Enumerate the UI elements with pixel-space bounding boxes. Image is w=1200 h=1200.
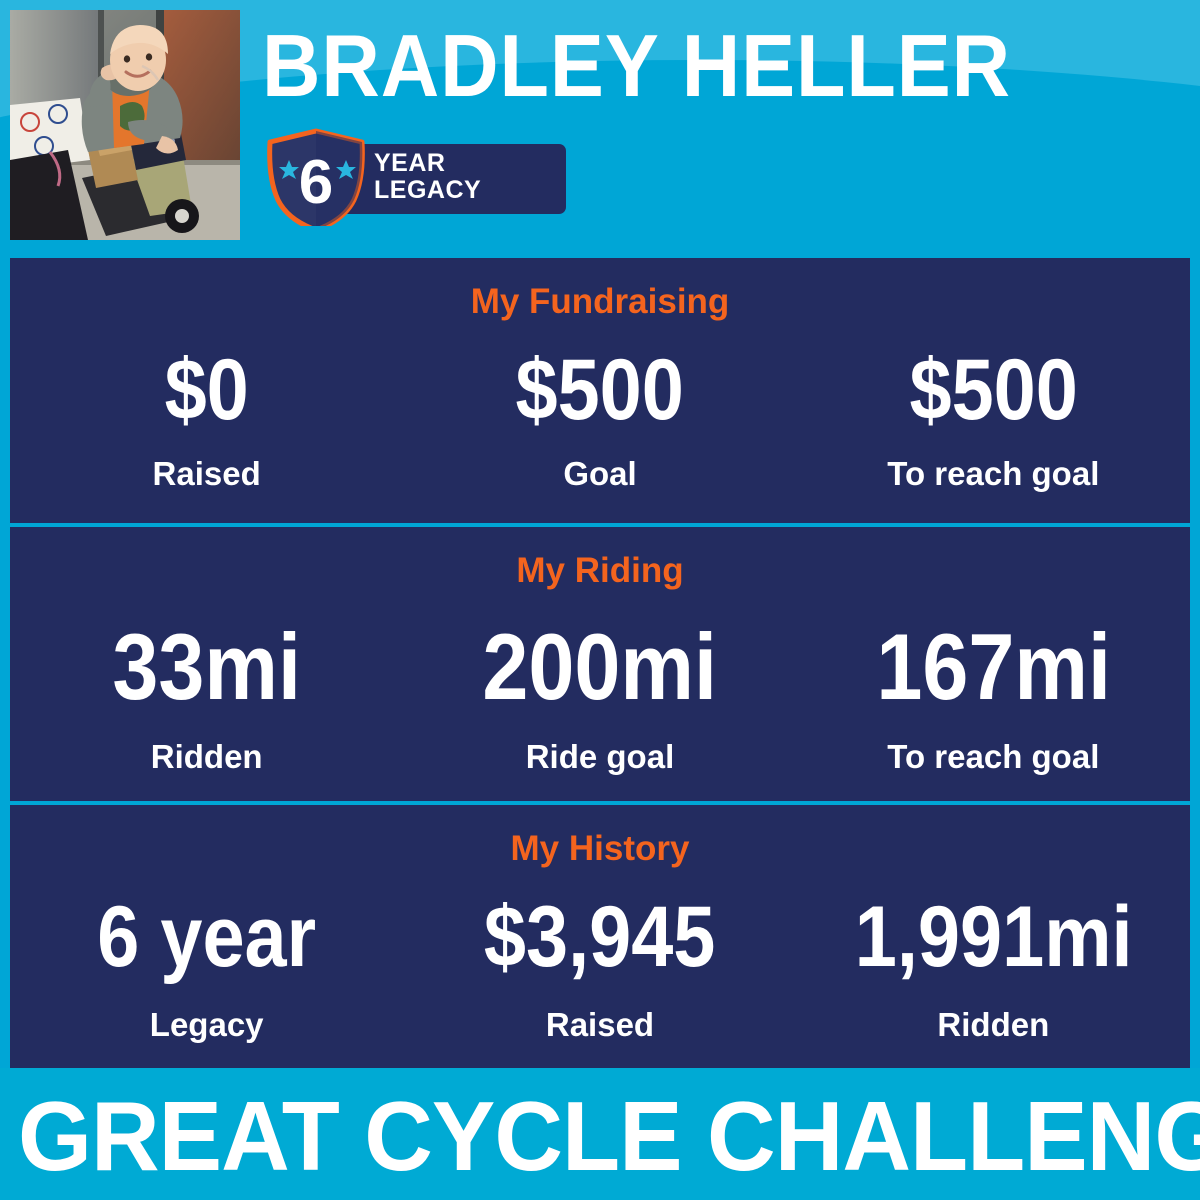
stat-total-ridden: 1,991mi Ridden xyxy=(797,883,1190,1045)
stat-label: Raised xyxy=(10,454,403,494)
stat-label: Goal xyxy=(403,454,796,494)
stat-label: Legacy xyxy=(10,1005,403,1045)
stat-value: 1,991mi xyxy=(820,883,1166,991)
fundraiser-card: BRADLEY HELLER YEAR LEGACY 6 My Fundrai xyxy=(0,0,1200,1200)
page-title: BRADLEY HELLER xyxy=(262,16,934,116)
header: BRADLEY HELLER YEAR LEGACY 6 xyxy=(0,0,1200,258)
stat-value: $0 xyxy=(34,338,380,442)
stat-value: $3,945 xyxy=(427,883,773,991)
stat-label: Ridden xyxy=(10,737,403,777)
legacy-legacy-label: LEGACY xyxy=(374,177,564,204)
stat-label: Ride goal xyxy=(403,737,796,777)
stat-value: 200mi xyxy=(427,609,773,725)
stat-miles-to-reach-goal: 167mi To reach goal xyxy=(797,609,1190,777)
panel-title-riding: My Riding xyxy=(10,551,1190,591)
legacy-plate-text: YEAR LEGACY xyxy=(374,150,564,204)
stat-legacy: 6 year Legacy xyxy=(10,883,403,1045)
stat-goal: $500 Goal xyxy=(403,338,796,494)
stat-value: 6 year xyxy=(34,883,380,991)
footer: GREAT CYCLE CHALLENGE xyxy=(0,1068,1200,1200)
great-cycle-challenge-wordmark: GREAT CYCLE CHALLENGE xyxy=(18,1084,1182,1188)
stat-to-reach-goal: $500 To reach goal xyxy=(797,338,1190,494)
stat-raised: $0 Raised xyxy=(10,338,403,494)
svg-text:6: 6 xyxy=(299,148,333,217)
stats-row-fundraising: $0 Raised $500 Goal $500 To reach goal xyxy=(10,338,1190,494)
stat-label: Ridden xyxy=(797,1005,1190,1045)
panel-title-fundraising: My Fundraising xyxy=(10,282,1190,322)
shield-icon: 6 xyxy=(262,128,370,226)
stats-panels: My Fundraising $0 Raised $500 Goal $500 … xyxy=(10,258,1190,1068)
stat-value: 167mi xyxy=(820,609,1166,725)
stat-total-raised: $3,945 Raised xyxy=(403,883,796,1045)
stat-label: To reach goal xyxy=(797,454,1190,494)
stat-value: $500 xyxy=(427,338,773,442)
stat-value: $500 xyxy=(820,338,1166,442)
stat-label: Raised xyxy=(403,1005,796,1045)
panel-fundraising: My Fundraising $0 Raised $500 Goal $500 … xyxy=(10,258,1190,523)
panel-riding: My Riding 33mi Ridden 200mi Ride goal 16… xyxy=(10,527,1190,801)
stat-value: 33mi xyxy=(34,609,380,725)
stats-row-riding: 33mi Ridden 200mi Ride goal 167mi To rea… xyxy=(10,609,1190,777)
panel-title-history: My History xyxy=(10,829,1190,869)
panel-history: My History 6 year Legacy $3,945 Raised 1… xyxy=(10,805,1190,1068)
stat-ridden: 33mi Ridden xyxy=(10,609,403,777)
stats-row-history: 6 year Legacy $3,945 Raised 1,991mi Ridd… xyxy=(10,883,1190,1045)
rider-photo xyxy=(10,10,240,240)
stat-ride-goal: 200mi Ride goal xyxy=(403,609,796,777)
stat-label: To reach goal xyxy=(797,737,1190,777)
legacy-year-label: YEAR xyxy=(374,150,564,177)
